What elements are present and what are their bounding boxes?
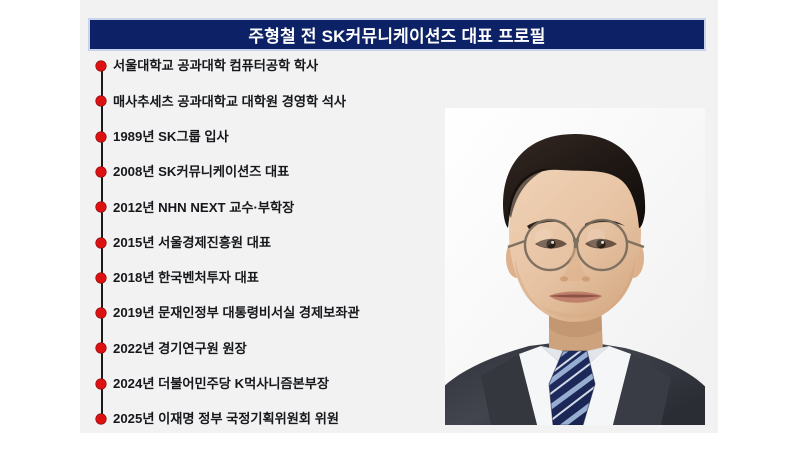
timeline-item-label: 2015년 서울경제진흥원 대표 (113, 236, 271, 249)
timeline-item: 2025년 이재명 정부 국정기획위원회 위원 (88, 408, 339, 430)
card-header: 주형철 전 SK커뮤니케이션즈 대표 프로필 (88, 18, 706, 51)
timeline-item: 2018년 한국벤처투자 대표 (88, 267, 259, 289)
timeline-item: 2012년 NHN NEXT 교수·부학장 (88, 196, 294, 218)
timeline-item: 2024년 더불어민주당 K먹사니즘본부장 (88, 373, 329, 395)
timeline-item-label: 매사추세츠 공과대학교 대학원 경영학 석사 (113, 95, 346, 108)
timeline-dot-icon (96, 167, 106, 177)
timeline-item: 서울대학교 공과대학 컴퓨터공학 학사 (88, 55, 318, 77)
timeline-item-label: 2008년 SK커뮤니케이션즈 대표 (113, 165, 289, 178)
page-title: 주형철 전 SK커뮤니케이션즈 대표 프로필 (248, 22, 545, 47)
timeline-item-label: 2024년 더불어민주당 K먹사니즘본부장 (113, 377, 329, 390)
timeline-dot-icon (96, 379, 106, 389)
timeline-dot-icon (96, 132, 106, 142)
timeline-item-label: 2012년 NHN NEXT 교수·부학장 (113, 201, 294, 214)
timeline-item-label: 2025년 이재명 정부 국정기획위원회 위원 (113, 412, 339, 425)
timeline-item: 2022년 경기연구원 원장 (88, 337, 247, 359)
timeline-dot-icon (96, 96, 106, 106)
timeline-item-label: 2019년 문재인정부 대통령비서실 경제보좌관 (113, 306, 360, 319)
timeline-dot-icon (96, 308, 106, 318)
timeline-dot-icon (96, 238, 106, 248)
timeline-item: 1989년 SK그룹 입사 (88, 126, 229, 148)
timeline-item-label: 서울대학교 공과대학 컴퓨터공학 학사 (113, 59, 318, 72)
timeline-dot-icon (96, 61, 106, 71)
timeline-item: 2008년 SK커뮤니케이션즈 대표 (88, 161, 289, 183)
career-timeline: 서울대학교 공과대학 컴퓨터공학 학사 매사추세츠 공과대학교 대학원 경영학 … (88, 52, 438, 433)
timeline-item: 2019년 문재인정부 대통령비서실 경제보좌관 (88, 302, 360, 324)
timeline-dot-icon (96, 414, 106, 424)
timeline-dot-icon (96, 273, 106, 283)
timeline-item-label: 2022년 경기연구원 원장 (113, 342, 247, 355)
profile-photo (445, 108, 705, 425)
timeline-item: 매사추세츠 공과대학교 대학원 경영학 석사 (88, 90, 346, 112)
timeline-item-label: 1989년 SK그룹 입사 (113, 130, 229, 143)
timeline-item: 2015년 서울경제진흥원 대표 (88, 232, 271, 254)
timeline-dot-icon (96, 202, 106, 212)
timeline-item-label: 2018년 한국벤처투자 대표 (113, 271, 259, 284)
timeline-dot-icon (96, 343, 106, 353)
screenshot-canvas: 주형철 전 SK커뮤니케이션즈 대표 프로필 서울대학교 공과대학 컴퓨터공학 … (0, 0, 800, 450)
